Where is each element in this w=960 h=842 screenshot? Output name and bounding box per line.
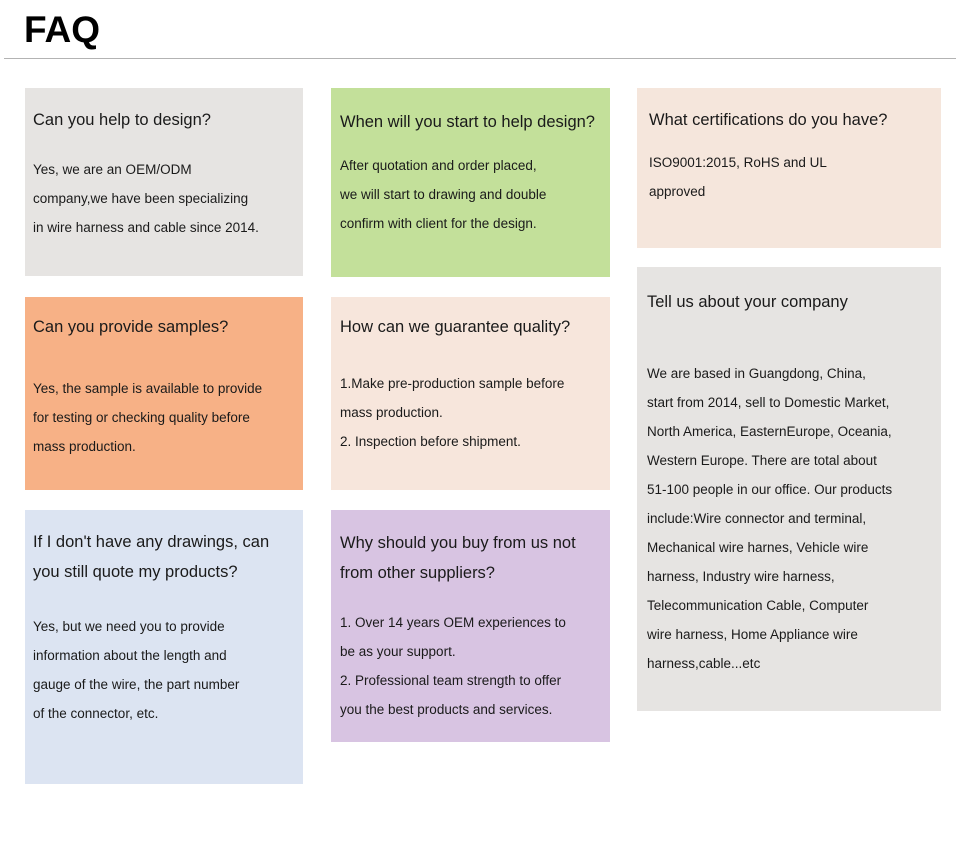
faq-answer-line: North America, EasternEurope, Oceania,	[647, 417, 927, 446]
faq-answer: Yes, we are an OEM/ODM company,we have b…	[33, 155, 283, 242]
faq-answer-line: for testing or checking quality before	[33, 403, 283, 432]
faq-card-certifications: What certifications do you have? ISO9001…	[637, 88, 941, 248]
faq-answer-line: 51-100 people in our office. Our product…	[647, 475, 927, 504]
faq-answer-line: Telecommunication Cable, Computer	[647, 591, 927, 620]
faq-answer-line: mass production.	[340, 398, 596, 427]
faq-answer-line: After quotation and order placed,	[340, 151, 596, 180]
faq-card-grid: Can you help to design? Yes, we are an O…	[0, 0, 960, 842]
faq-answer-line: 1.Make pre-production sample before	[340, 369, 596, 398]
faq-answer-line: We are based in Guangdong, China,	[647, 359, 927, 388]
faq-answer-line: 1. Over 14 years OEM experiences to	[340, 608, 596, 637]
faq-answer-line: we will start to drawing and double	[340, 180, 596, 209]
faq-question: What certifications do you have?	[649, 105, 925, 135]
faq-answer-line: be as your support.	[340, 637, 596, 666]
faq-answer-line: Yes, the sample is available to provide	[33, 374, 283, 403]
faq-card-body: Can you help to design? Yes, we are an O…	[25, 88, 303, 242]
faq-answer-line: wire harness, Home Appliance wire	[647, 620, 927, 649]
faq-card-body: Can you provide samples? Yes, the sample…	[25, 297, 303, 461]
faq-answer: ISO9001:2015, RoHS and UL approved	[649, 148, 925, 206]
faq-answer-line: company,we have been specializing	[33, 184, 283, 213]
faq-card-body: How can we guarantee quality? 1.Make pre…	[331, 297, 610, 456]
faq-answer-line: confirm with client for the design.	[340, 209, 596, 238]
faq-answer-line: harness,cable...etc	[647, 649, 927, 678]
faq-answer-line: you the best products and services.	[340, 695, 596, 724]
faq-answer-line: mass production.	[33, 432, 283, 461]
faq-answer: We are based in Guangdong, China, start …	[647, 359, 927, 678]
faq-answer-line: in wire harness and cable since 2014.	[33, 213, 283, 242]
faq-answer-line: start from 2014, sell to Domestic Market…	[647, 388, 927, 417]
faq-card-quality: How can we guarantee quality? 1.Make pre…	[331, 297, 610, 490]
faq-answer: 1.Make pre-production sample before mass…	[340, 369, 596, 456]
faq-question: When will you start to help design?	[340, 107, 596, 137]
faq-answer: After quotation and order placed, we wil…	[340, 151, 596, 238]
faq-answer-line: Mechanical wire harnes, Vehicle wire	[647, 533, 927, 562]
faq-answer-line: Yes, but we need you to provide	[33, 612, 283, 641]
faq-answer-line: Yes, we are an OEM/ODM	[33, 155, 283, 184]
faq-answer-line: 2. Inspection before shipment.	[340, 427, 596, 456]
faq-answer-line: approved	[649, 177, 925, 206]
faq-answer: 1. Over 14 years OEM experiences to be a…	[340, 608, 596, 724]
faq-answer-line: 2. Professional team strength to offer	[340, 666, 596, 695]
faq-card-body: If I don't have any drawings, can you st…	[25, 510, 303, 728]
faq-question: If I don't have any drawings, can you st…	[33, 527, 283, 587]
faq-question: Can you provide samples?	[33, 312, 283, 342]
faq-card-samples: Can you provide samples? Yes, the sample…	[25, 297, 303, 490]
faq-answer-line: harness, Industry wire harness,	[647, 562, 927, 591]
faq-answer-line: of the connector, etc.	[33, 699, 283, 728]
faq-card-body: Why should you buy from us not from othe…	[331, 510, 610, 724]
faq-question: Why should you buy from us not from othe…	[340, 528, 596, 588]
faq-card-body: What certifications do you have? ISO9001…	[637, 88, 941, 206]
faq-card-start-design: When will you start to help design? Afte…	[331, 88, 610, 277]
faq-answer-line: gauge of the wire, the part number	[33, 670, 283, 699]
faq-card-design: Can you help to design? Yes, we are an O…	[25, 88, 303, 276]
faq-answer: Yes, the sample is available to provide …	[33, 374, 283, 461]
faq-card-body: When will you start to help design? Afte…	[331, 88, 610, 238]
faq-answer-line: ISO9001:2015, RoHS and UL	[649, 148, 925, 177]
faq-card-drawings: If I don't have any drawings, can you st…	[25, 510, 303, 784]
faq-question: Tell us about your company	[647, 287, 927, 317]
faq-card-why-us: Why should you buy from us not from othe…	[331, 510, 610, 742]
faq-question: How can we guarantee quality?	[340, 312, 596, 342]
faq-answer-line: information about the length and	[33, 641, 283, 670]
faq-answer-line: include:Wire connector and terminal,	[647, 504, 927, 533]
faq-card-company: Tell us about your company We are based …	[637, 267, 941, 711]
faq-answer-line: Western Europe. There are total about	[647, 446, 927, 475]
faq-answer: Yes, but we need you to provide informat…	[33, 612, 283, 728]
faq-card-body: Tell us about your company We are based …	[637, 267, 941, 678]
faq-question: Can you help to design?	[33, 105, 283, 135]
